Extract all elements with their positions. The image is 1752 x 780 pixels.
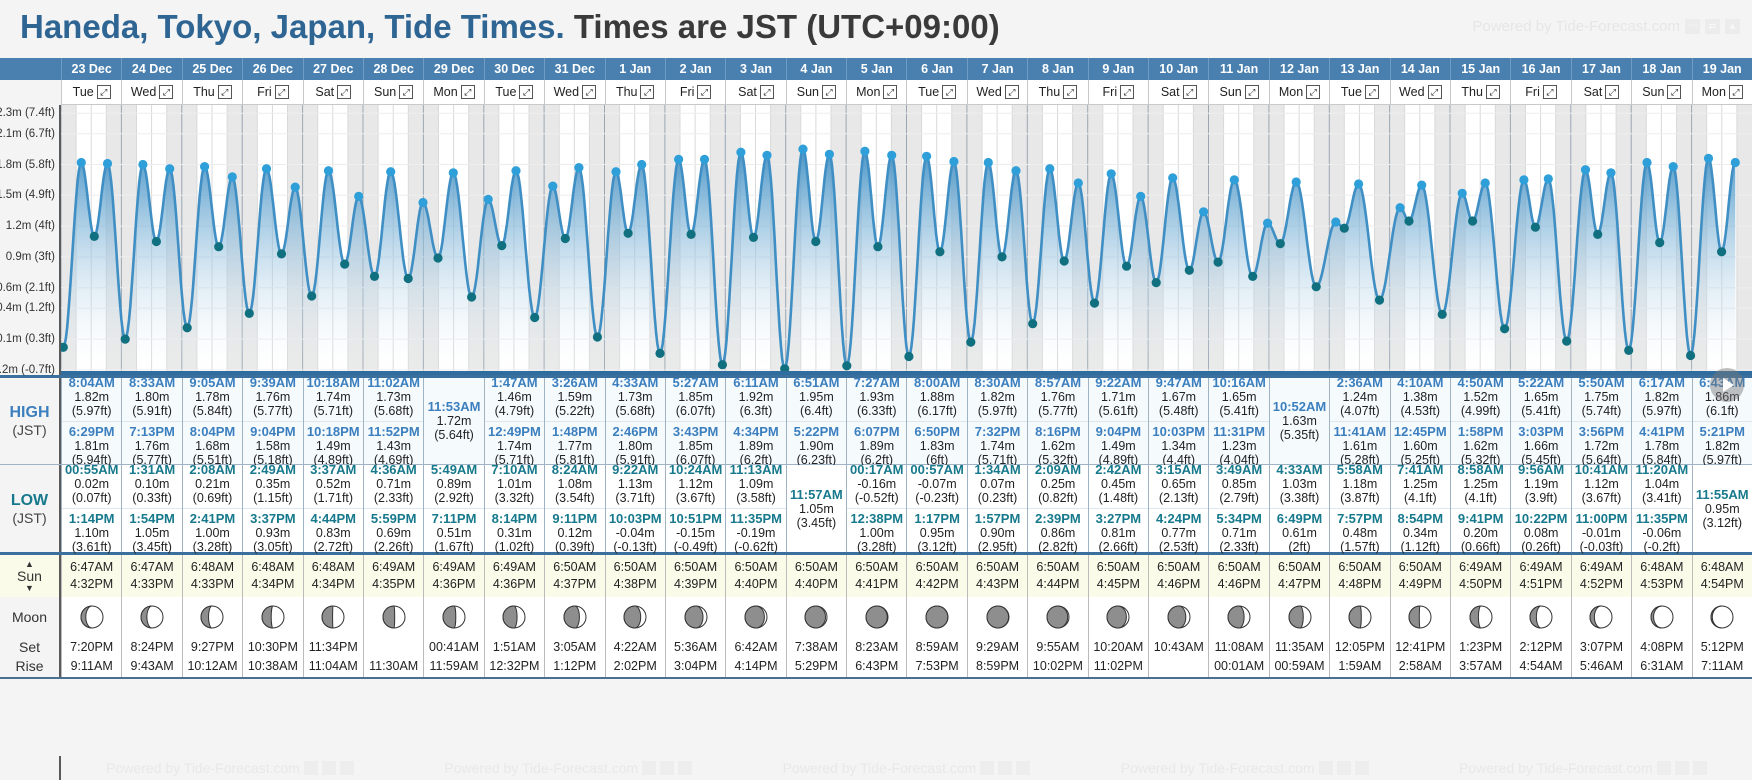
moon-phase-icon: [199, 604, 225, 630]
date-header-cell[interactable]: 14 Jan: [1390, 58, 1450, 80]
moonset-time: 3:05AM: [553, 638, 596, 657]
low-tide-time: 8:58AM: [1451, 462, 1510, 477]
expand-icon[interactable]: ⤢: [97, 85, 111, 99]
moonrise-label-text: Rise: [15, 657, 43, 676]
high-tide-time: 1:58PM: [1451, 424, 1510, 439]
weekday-header-cell[interactable]: Thu⤢: [1450, 80, 1510, 105]
high-tide-cell[interactable]: 4:50AM1.52m(4.99ft)1:58PM1.62m(5.32ft): [1450, 378, 1510, 464]
low-tide-time: 11:00PM: [1572, 511, 1631, 526]
high-tide-cell[interactable]: 8:57AM1.76m(5.77ft)8:16PM1.62m(5.32ft): [1027, 378, 1087, 464]
date-header-cell[interactable]: 9 Jan: [1088, 58, 1148, 80]
weekday-header-cell[interactable]: Fri⤢: [242, 80, 302, 105]
sunrise-time: 6:50AM: [1036, 559, 1079, 576]
low-tide-time: 3:15AM: [1149, 462, 1208, 477]
weekday-header-cell[interactable]: Sun⤢: [363, 80, 423, 105]
high-tide-time: 10:16AM: [1209, 375, 1268, 390]
lighthouse-icon: [1016, 761, 1030, 775]
sun-cell: 6:49AM4:51PM: [1510, 555, 1570, 597]
powered-by-label: Powered by Tide-Forecast.com: [1472, 18, 1680, 35]
moon-setrise-cell: 3:05AM1:12PM: [544, 637, 604, 677]
high-tide-cell[interactable]: 5:22AM1.65m(5.41ft)3:03PM1.66m(5.45ft): [1510, 378, 1570, 464]
date-header-cell[interactable]: 27 Dec: [303, 58, 363, 80]
date-header-cell[interactable]: 2 Jan: [665, 58, 725, 80]
moon-setrise-cell: 8:23AM6:43PM: [846, 637, 906, 677]
high-tide-cell[interactable]: 5:50AM1.75m(5.74ft)3:56PM1.72m(5.64ft): [1571, 378, 1631, 464]
footer-powered-by-label: Powered by Tide-Forecast.com: [106, 760, 300, 776]
date-header-cell[interactable]: 23 Dec: [61, 58, 121, 80]
weekday-header-cell[interactable]: Wed⤢: [121, 80, 181, 105]
low-tide-cell[interactable]: 11:20AM1.04m(3.41ft)11:35PM-0.06m(-0.2ft…: [1631, 465, 1691, 552]
high-tide-cell[interactable]: 8:30AM1.82m(5.97ft)7:32PM1.74m(5.71ft): [967, 378, 1027, 464]
low-tide-cell[interactable]: 00:55AM0.02m(0.07ft)1:14PM1.10m(3.61ft): [61, 465, 121, 552]
low-tide-height-m: 1.25m: [1451, 477, 1510, 491]
moon-setrise-cell: 11:35AM00:59AM: [1269, 637, 1329, 677]
high-tide-time: 8:33AM: [122, 375, 181, 390]
low-tide-time: 4:24PM: [1149, 511, 1208, 526]
high-tide-height-m: 1.62m: [1028, 439, 1087, 453]
weekday-label: Tue: [73, 85, 94, 99]
high-tide-height-ft: (5.41ft): [1209, 404, 1268, 418]
sun-cell: 6:48AM4:33PM: [182, 555, 242, 597]
date-header-cell[interactable]: 28 Dec: [363, 58, 423, 80]
low-tide-cell[interactable]: 4:33AM1.03m(3.38ft)6:49PM0.61m(2ft): [1269, 465, 1329, 552]
high-tide-time: 6:29PM: [62, 424, 121, 439]
sunrise-time: 6:50AM: [1097, 559, 1140, 576]
expand-icon[interactable]: ⤢: [1245, 85, 1259, 99]
low-tide-cell[interactable]: 1:34AM0.07m(0.23ft)1:57PM0.90m(2.95ft): [967, 465, 1027, 552]
low-tide-height-m: -0.16m: [847, 477, 906, 491]
low-tide-cell[interactable]: 7:10AM1.01m(3.32ft)8:14PM0.31m(1.02ft): [484, 465, 544, 552]
low-tide-cell[interactable]: 8:58AM1.25m(4.1ft)9:41PM0.20m(0.66ft): [1450, 465, 1510, 552]
high-tide-time: 5:21PM: [1693, 424, 1752, 439]
high-tide-cell[interactable]: 11:53AM1.72m(5.64ft): [423, 378, 483, 464]
low-tide-cell[interactable]: 00:17AM-0.16m(-0.52ft)12:38PM1.00m(3.28f…: [846, 465, 906, 552]
high-tide-cell[interactable]: 5:27AM1.85m(6.07ft)3:43PM1.85m(6.07ft): [665, 378, 725, 464]
footer-powered-by-label: Powered by Tide-Forecast.com: [444, 760, 638, 776]
expand-icon[interactable]: ⤢: [1183, 85, 1197, 99]
moon-setrise-cell: 10:20AM11:02PM: [1088, 637, 1148, 677]
low-tide-height-ft: (3.87ft): [1330, 491, 1389, 505]
high-tide-cell[interactable]: 8:33AM1.80m(5.91ft)7:13PM1.76m(5.77ft): [121, 378, 181, 464]
high-tide-cell[interactable]: 9:05AM1.78m(5.84ft)8:04PM1.68m(5.51ft): [182, 378, 242, 464]
moon-setrise-cell: 5:12PM7:11AM: [1692, 637, 1752, 677]
high-tide-cell[interactable]: 10:18AM1.74m(5.71ft)10:18PM1.49m(4.89ft): [303, 378, 363, 464]
expand-icon[interactable]: ⤢: [1543, 85, 1557, 99]
high-tide-cell[interactable]: 4:10AM1.38m(4.53ft)12:45PM1.60m(5.25ft): [1390, 378, 1450, 464]
sun-cell: 6:50AM4:45PM: [1088, 555, 1148, 597]
high-tide-event: 5:21PM1.82m(5.97ft): [1693, 421, 1752, 470]
sunrise-time: 6:50AM: [916, 559, 959, 576]
moon-setrise-cell: 6:42AM4:14PM: [725, 637, 785, 677]
high-tide-time: 3:26AM: [545, 375, 604, 390]
moonset-time: 10:20AM: [1093, 638, 1143, 657]
expand-icon[interactable]: ⤢: [942, 85, 956, 99]
high-tide-height-ft: (5.68ft): [364, 404, 423, 418]
high-tide-event: 11:53AM1.72m(5.64ft): [424, 397, 483, 445]
date-header-cell[interactable]: 10 Jan: [1148, 58, 1208, 80]
date-header-cell[interactable]: 31 Dec: [544, 58, 604, 80]
sunset-time: 4:40PM: [734, 576, 777, 593]
sun-cell: 6:47AM4:33PM: [121, 555, 181, 597]
low-tide-cell[interactable]: 2:42AM0.45m(1.48ft)3:27PM0.81m(2.66ft): [1088, 465, 1148, 552]
high-tide-height-ft: (5.74ft): [1572, 404, 1631, 418]
high-tide-time: 8:04PM: [183, 424, 242, 439]
high-tide-cell[interactable]: 6:51AM1.95m(6.4ft)5:22PM1.90m(6.23ft): [786, 378, 846, 464]
low-tide-height-ft: (2ft): [1270, 540, 1329, 554]
moon-phase-icon: [260, 604, 286, 630]
moonrise-time: 3:57AM: [1459, 657, 1502, 676]
low-tide-cell[interactable]: 10:41AM1.12m(3.67ft)11:00PM-0.01m(-0.03f…: [1571, 465, 1631, 552]
high-tide-cell[interactable]: 11:02AM1.73m(5.68ft)11:52PM1.43m(4.69ft): [363, 378, 423, 464]
sunset-time: 4:34PM: [251, 576, 294, 593]
high-tide-height-m: 1.74m: [304, 390, 363, 404]
high-tide-event: 4:50AM1.52m(4.99ft): [1451, 373, 1510, 421]
expand-icon[interactable]: ⤢: [1005, 85, 1019, 99]
weekday-header-cell[interactable]: Sat⤢: [303, 80, 363, 105]
refresh-icon: [660, 761, 674, 775]
low-tide-cell[interactable]: 3:15AM0.65m(2.13ft)4:24PM0.77m(2.53ft): [1148, 465, 1208, 552]
low-tide-cell[interactable]: 1:31AM0.10m(0.33ft)1:54PM1.05m(3.45ft): [121, 465, 181, 552]
low-tide-cell[interactable]: 5:58AM1.18m(3.87ft)7:57PM0.48m(1.57ft): [1329, 465, 1389, 552]
high-tide-cell[interactable]: 9:47AM1.67m(5.48ft)10:03PM1.34m(4.4ft): [1148, 378, 1208, 464]
expand-icon[interactable]: ⤢: [822, 85, 836, 99]
low-tide-height-m: 0.95m: [907, 526, 966, 540]
low-tide-event: 2:42AM0.45m(1.48ft): [1089, 460, 1148, 508]
sun-cell: 6:50AM4:38PM: [605, 555, 665, 597]
footer-powered-by: Powered by Tide-Forecast.com: [1121, 760, 1369, 776]
expand-icon[interactable]: ⤢: [399, 85, 413, 99]
date-header-cell[interactable]: 30 Dec: [484, 58, 544, 80]
date-header-cell[interactable]: 11 Jan: [1208, 58, 1268, 80]
sun-cell: 6:50AM4:40PM: [725, 555, 785, 597]
moonset-time: 11:34PM: [309, 638, 358, 657]
sunrise-time: 6:50AM: [1399, 559, 1442, 576]
high-tide-cell[interactable]: 2:36AM1.24m(4.07ft)11:41AM1.61m(5.28ft): [1329, 378, 1389, 464]
high-tide-height-m: 1.82m: [62, 390, 121, 404]
low-tide-time: 1:34AM: [968, 462, 1027, 477]
date-header-cell[interactable]: 5 Jan: [846, 58, 906, 80]
moonset-time: 4:22AM: [614, 638, 657, 657]
expand-icon[interactable]: ⤢: [275, 85, 289, 99]
low-tide-event: 9:11PM0.12m(0.39ft): [545, 508, 604, 557]
weekday-header-cell[interactable]: Sun⤢: [786, 80, 846, 105]
sunrise-time: 6:50AM: [855, 559, 898, 576]
low-tide-event: 7:41AM1.25m(4.1ft): [1391, 460, 1450, 508]
high-tide-event: 5:27AM1.85m(6.07ft): [666, 373, 725, 421]
expand-icon[interactable]: ⤢: [519, 85, 533, 99]
sun-cell: 6:49AM4:52PM: [1571, 555, 1631, 597]
low-tide-event: 7:57PM0.48m(1.57ft): [1330, 508, 1389, 557]
high-tide-cell[interactable]: 6:11AM1.92m(6.3ft)4:34PM1.89m(6.2ft): [725, 378, 785, 464]
high-tide-height-m: 1.38m: [1391, 390, 1450, 404]
moonrise-time: 7:11AM: [1701, 657, 1743, 676]
weekday-label: Wed: [1399, 85, 1424, 99]
moonrise-time: 10:12AM: [187, 657, 237, 676]
low-tide-cell[interactable]: 5:49AM0.89m(2.92ft)7:11PM0.51m(1.67ft): [423, 465, 483, 552]
date-header-cell[interactable]: 17 Jan: [1571, 58, 1631, 80]
high-tide-cell[interactable]: 6:17AM1.82m(5.97ft)4:41PM1.78m(5.84ft): [1631, 378, 1691, 464]
moonrise-time: 11:02PM: [1094, 657, 1143, 676]
low-label-text: LOW: [11, 492, 48, 510]
expand-icon[interactable]: ⤢: [1729, 85, 1743, 99]
low-tide-height-m: 1.12m: [1572, 477, 1631, 491]
low-tide-cell[interactable]: 3:49AM0.85m(2.79ft)5:34PM0.71m(2.33ft): [1208, 465, 1268, 552]
low-tide-cell[interactable]: 7:41AM1.25m(4.1ft)8:54PM0.34m(1.12ft): [1390, 465, 1450, 552]
low-tide-height-ft: (0.23ft): [968, 491, 1027, 505]
low-tide-height-m: 0.48m: [1330, 526, 1389, 540]
weekday-header-cell[interactable]: Tue⤢: [484, 80, 544, 105]
weekday-header-cell[interactable]: Mon⤢: [1269, 80, 1329, 105]
high-tide-height-ft: (5.84ft): [183, 404, 242, 418]
date-header-cell[interactable]: 24 Dec: [121, 58, 181, 80]
weekday-cells: Tue⤢Wed⤢Thu⤢Fri⤢Sat⤢Sun⤢Mon⤢Tue⤢Wed⤢Thu⤢…: [61, 80, 1752, 105]
moon-phase-icon: [803, 604, 829, 630]
date-header-cell[interactable]: 12 Jan: [1269, 58, 1329, 80]
low-tide-cell[interactable]: 00:57AM-0.07m(-0.23ft)1:17PM0.95m(3.12ft…: [906, 465, 966, 552]
low-tide-time: 3:37PM: [243, 511, 302, 526]
moonset-time: 10:30PM: [248, 638, 298, 657]
moon-phase-cell: [1208, 597, 1268, 637]
date-header-cell[interactable]: 16 Jan: [1510, 58, 1570, 80]
date-header-cell[interactable]: 8 Jan: [1027, 58, 1087, 80]
low-tide-height-ft: (2.66ft): [1089, 540, 1148, 554]
sunrise-time: 6:50AM: [795, 559, 838, 576]
low-tide-time: 5:49AM: [424, 462, 483, 477]
high-tide-cell[interactable]: 1:47AM1.46m(4.79ft)12:49PM1.74m(5.71ft): [484, 378, 544, 464]
moon-phase-cell: [725, 597, 785, 637]
low-tide-height-ft: (1.48ft): [1089, 491, 1148, 505]
date-header-cell[interactable]: 1 Jan: [605, 58, 665, 80]
date-header-cell[interactable]: 25 Dec: [182, 58, 242, 80]
expand-icon[interactable]: ⤢: [337, 85, 351, 99]
high-tide-event: 3:26AM1.59m(5.22ft): [545, 373, 604, 421]
low-tide-height-m: 0.71m: [1209, 526, 1268, 540]
high-tide-event: 4:10AM1.38m(4.53ft): [1391, 373, 1450, 421]
moon-phase-cell: [1692, 597, 1752, 637]
date-header-cell[interactable]: 19 Jan: [1692, 58, 1752, 80]
date-header-cell[interactable]: 7 Jan: [967, 58, 1027, 80]
moon-phase-cell: [1450, 597, 1510, 637]
low-tide-cell[interactable]: 3:37AM0.52m(1.71ft)4:44PM0.83m(2.72ft): [303, 465, 363, 552]
low-tide-time: 9:22AM: [606, 462, 665, 477]
expand-icon[interactable]: ⤢: [1486, 85, 1500, 99]
expand-icon[interactable]: ⤢: [1667, 85, 1681, 99]
weekday-header-cell[interactable]: Wed⤢: [544, 80, 604, 105]
sun-cell: 6:50AM4:40PM: [786, 555, 846, 597]
high-tide-time: 3:03PM: [1511, 424, 1570, 439]
high-tide-height-m: 1.89m: [847, 439, 906, 453]
expand-icon[interactable]: ⤢: [760, 85, 774, 99]
sun-row-label: ▲ Sun ▼: [0, 555, 61, 597]
moon-setrise-cells: 7:20PM9:11AM8:24PM9:43AM9:27PM10:12AM10:…: [61, 637, 1752, 677]
y-axis-tick: 2.3m (7.4ft): [0, 107, 55, 119]
weekday-header-cell[interactable]: Mon⤢: [1692, 80, 1752, 105]
weekday-header-cell[interactable]: Tue⤢: [1329, 80, 1389, 105]
weekday-label: Sat: [315, 85, 334, 99]
sunset-time: 4:53PM: [1640, 576, 1683, 593]
date-header-cell[interactable]: 18 Jan: [1631, 58, 1691, 80]
weekday-header-cell[interactable]: Tue⤢: [906, 80, 966, 105]
low-tide-height-m: 0.35m: [243, 477, 302, 491]
weekday-header-cell[interactable]: Mon⤢: [423, 80, 483, 105]
low-tide-cell[interactable]: 9:56AM1.19m(3.9ft)10:22PM0.08m(0.26ft): [1510, 465, 1570, 552]
moon-phase-cell: [423, 597, 483, 637]
high-tide-cell[interactable]: 3:26AM1.59m(5.22ft)1:48PM1.77m(5.81ft): [544, 378, 604, 464]
weekday-header-cell[interactable]: Tue⤢: [61, 80, 121, 105]
weekday-label: Tue: [495, 85, 516, 99]
low-tide-event: 10:41AM1.12m(3.67ft): [1572, 460, 1631, 508]
high-tide-cell[interactable]: 8:00AM1.88m(6.17ft)6:50PM1.83m(6ft): [906, 378, 966, 464]
low-tide-height-m: 0.08m: [1511, 526, 1570, 540]
low-tide-cell[interactable]: 2:08AM0.21m(0.69ft)2:41PM1.00m(3.28ft): [182, 465, 242, 552]
weekday-label: Thu: [1461, 85, 1483, 99]
low-tide-event: 4:24PM0.77m(2.53ft): [1149, 508, 1208, 557]
low-tide-cell[interactable]: 11:57AM1.05m(3.45ft): [786, 465, 846, 552]
high-tide-time: 4:34PM: [726, 424, 785, 439]
sunset-time: 4:33PM: [191, 576, 234, 593]
weekday-header-cell[interactable]: Thu⤢: [605, 80, 665, 105]
weekday-header-cell[interactable]: Sun⤢: [1631, 80, 1691, 105]
low-tide-cell[interactable]: 11:13AM1.09m(3.58ft)11:35PM-0.19m(-0.62f…: [725, 465, 785, 552]
low-tide-height-ft: (0.66ft): [1451, 540, 1510, 554]
expand-icon[interactable]: ⤢: [640, 85, 654, 99]
low-tide-height-ft: (3.61ft): [62, 540, 121, 554]
weekday-header-cell[interactable]: Thu⤢: [1027, 80, 1087, 105]
low-tide-cell[interactable]: 11:55AM0.95m(3.12ft): [1692, 465, 1752, 552]
weekday-header-cell[interactable]: Wed⤢: [967, 80, 1027, 105]
weekday-header-cell[interactable]: Thu⤢: [182, 80, 242, 105]
sunrise-time: 6:48AM: [1640, 559, 1683, 576]
sunrise-time: 6:50AM: [1338, 559, 1381, 576]
date-header-cell[interactable]: 6 Jan: [906, 58, 966, 80]
low-tide-height-m: -0.15m: [666, 526, 725, 540]
moon-setrise-cell: 1:51AM12:32PM: [484, 637, 544, 677]
weekday-label: Sun: [797, 85, 819, 99]
high-tide-height-m: 1.82m: [1632, 390, 1691, 404]
weekday-header-cell[interactable]: Sun⤢: [1208, 80, 1268, 105]
weekday-header-cell[interactable]: Fri⤢: [1088, 80, 1148, 105]
sunset-time: 4:47PM: [1278, 576, 1321, 593]
play-icon[interactable]: [1710, 368, 1744, 402]
low-tide-cell[interactable]: 2:09AM0.25m(0.82ft)2:39PM0.86m(2.82ft): [1027, 465, 1087, 552]
high-tide-height-m: 1.82m: [968, 390, 1027, 404]
low-tide-cell[interactable]: 2:49AM0.35m(1.15ft)3:37PM0.93m(3.05ft): [242, 465, 302, 552]
moon-setrise-cell: 11:34PM11:04AM: [303, 637, 363, 677]
low-tide-cell[interactable]: 10:24AM1.12m(3.67ft)10:51PM-0.15m(-0.49f…: [665, 465, 725, 552]
moon-setrise-cell: 4:08PM6:31AM: [1631, 637, 1691, 677]
expand-icon[interactable]: ⤢: [1428, 85, 1442, 99]
weekday-label: Wed: [131, 85, 156, 99]
expand-icon[interactable]: ⤢: [1365, 85, 1379, 99]
tide-chart: 2.3m (7.4ft)2.1m (6.7ft)1.8m (5.8ft)1.5m…: [0, 105, 1752, 375]
expand-icon[interactable]: ⤢: [1605, 85, 1619, 99]
high-tide-event: 6:17AM1.82m(5.97ft): [1632, 373, 1691, 421]
high-tide-time: 9:04PM: [243, 424, 302, 439]
high-tide-time: 5:22AM: [1511, 375, 1570, 390]
low-tide-cell[interactable]: 4:36AM0.71m(2.33ft)5:59PM0.69m(2.26ft): [363, 465, 423, 552]
sunrise-time: 6:48AM: [1701, 559, 1744, 576]
weekday-header-cell[interactable]: Sat⤢: [1571, 80, 1631, 105]
expand-icon[interactable]: ⤢: [218, 85, 232, 99]
high-tide-time: 5:22PM: [787, 424, 846, 439]
expand-icon[interactable]: ⤢: [1120, 85, 1134, 99]
weekday-header-cell[interactable]: Wed⤢: [1390, 80, 1450, 105]
expand-icon[interactable]: ⤢: [697, 85, 711, 99]
high-tide-cell[interactable]: 8:04AM1.82m(5.97ft)6:29PM1.81m(5.94ft): [61, 378, 121, 464]
low-tide-event: 12:38PM1.00m(3.28ft): [847, 508, 906, 557]
high-tide-cell[interactable]: 4:33AM1.73m(5.68ft)2:46PM1.80m(5.91ft): [605, 378, 665, 464]
moon-phase-icon: [1709, 604, 1735, 630]
date-header-cell[interactable]: 4 Jan: [786, 58, 846, 80]
high-tide-cell[interactable]: 10:16AM1.65m(5.41ft)11:31PM1.23m(4.04ft): [1208, 378, 1268, 464]
high-tide-cell[interactable]: 9:39AM1.76m(5.77ft)9:04PM1.58m(5.18ft): [242, 378, 302, 464]
moonset-time: 8:59AM: [916, 638, 959, 657]
sunrise-time: 6:49AM: [372, 559, 415, 576]
moonrise-time: 10:02PM: [1033, 657, 1083, 676]
expand-icon[interactable]: ⤢: [582, 85, 596, 99]
low-tide-event: 8:54PM0.34m(1.12ft): [1391, 508, 1450, 557]
weekday-header-cell[interactable]: Mon⤢: [846, 80, 906, 105]
moonset-time: 9:27PM: [191, 638, 234, 657]
sunset-time: 4:32PM: [70, 576, 113, 593]
sun-cell: 6:49AM4:35PM: [363, 555, 423, 597]
high-tide-cell[interactable]: 10:52AM1.63m(5.35ft): [1269, 378, 1329, 464]
weekday-label: Tue: [1341, 85, 1362, 99]
low-tide-event: 10:24AM1.12m(3.67ft): [666, 460, 725, 508]
expand-icon[interactable]: ⤢: [461, 85, 475, 99]
expand-icon[interactable]: ⤢: [883, 85, 897, 99]
y-axis-tick: 1.8m (5.8ft): [0, 159, 55, 171]
low-tide-cell[interactable]: 9:22AM1.13m(3.71ft)10:03PM-0.04m(-0.13ft…: [605, 465, 665, 552]
y-axis: 2.3m (7.4ft)2.1m (6.7ft)1.8m (5.8ft)1.5m…: [0, 105, 61, 375]
low-tide-event: 4:44PM0.83m(2.72ft): [304, 508, 363, 557]
expand-icon[interactable]: ⤢: [159, 85, 173, 99]
moon-row-label: Moon: [0, 597, 61, 637]
weekday-header-cell[interactable]: Fri⤢: [665, 80, 725, 105]
low-tide-cell[interactable]: 8:24AM1.08m(3.54ft)9:11PM0.12m(0.39ft): [544, 465, 604, 552]
low-tide-event: 5:59PM0.69m(2.26ft): [364, 508, 423, 557]
high-tide-time: 8:04AM: [62, 375, 121, 390]
high-tide-height-m: 1.76m: [122, 439, 181, 453]
expand-icon[interactable]: ⤢: [1063, 85, 1077, 99]
lighthouse-icon: [678, 761, 692, 775]
moonset-time: 10:43AM: [1154, 638, 1204, 657]
moon-phase-cell: [121, 597, 181, 637]
high-tide-height-m: 1.77m: [545, 439, 604, 453]
sunset-time: 4:49PM: [1399, 576, 1442, 593]
date-header-cell[interactable]: 26 Dec: [242, 58, 302, 80]
date-header-cell[interactable]: 3 Jan: [725, 58, 785, 80]
low-tide-event: 7:10AM1.01m(3.32ft): [485, 460, 544, 508]
weekday-header-cell[interactable]: Fri⤢: [1510, 80, 1570, 105]
footer-powered-by-label: Powered by Tide-Forecast.com: [783, 760, 977, 776]
footer-powered-by-label: Powered by Tide-Forecast.com: [1459, 760, 1653, 776]
date-header-cell[interactable]: 13 Jan: [1329, 58, 1389, 80]
moon-phase-icon: [1407, 604, 1433, 630]
moon-phase-icon: [743, 604, 769, 630]
weekday-label: Sat: [738, 85, 757, 99]
low-tide-time: 2:08AM: [183, 462, 242, 477]
high-tide-cell[interactable]: 9:22AM1.71m(5.61ft)9:04PM1.49m(4.89ft): [1088, 378, 1148, 464]
low-tide-time: 8:14PM: [485, 511, 544, 526]
date-header-cell[interactable]: 29 Dec: [423, 58, 483, 80]
date-header-cell[interactable]: 15 Jan: [1450, 58, 1510, 80]
high-tide-cell[interactable]: 7:27AM1.93m(6.33ft)6:07PM1.89m(6.2ft): [846, 378, 906, 464]
weekday-header-cell[interactable]: Sat⤢: [1148, 80, 1208, 105]
low-tide-height-ft: (3.67ft): [666, 491, 725, 505]
expand-icon[interactable]: ⤢: [1306, 85, 1320, 99]
weekday-header-cell[interactable]: Sat⤢: [725, 80, 785, 105]
